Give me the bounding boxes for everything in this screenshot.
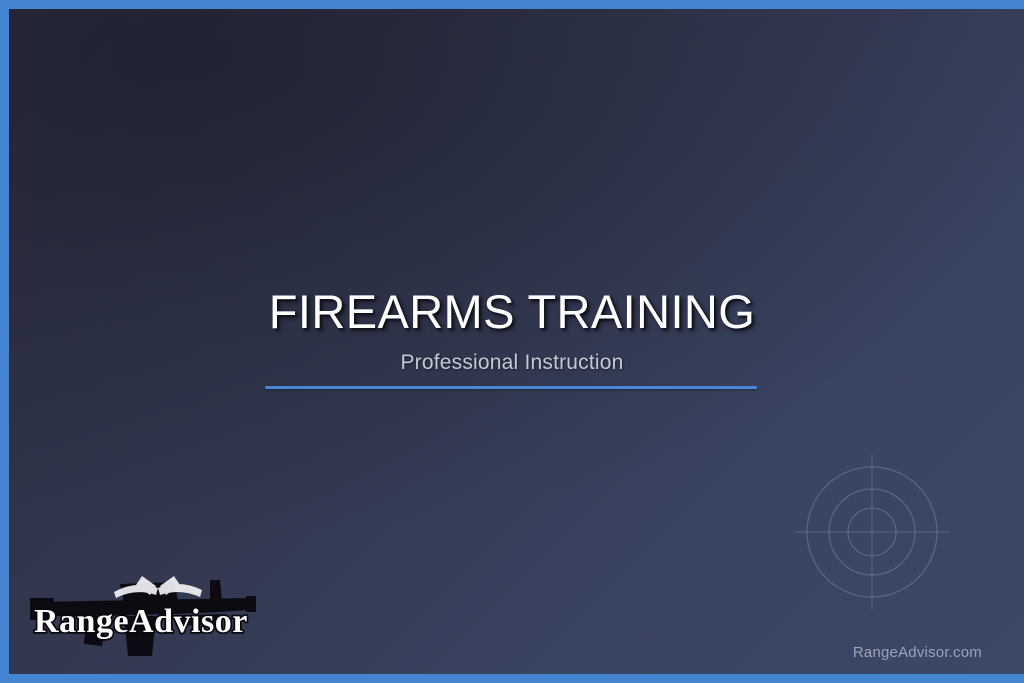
logo-wordmark: RangeAdvisor (34, 603, 248, 640)
presentation-slide: FIREARMS TRAINING Professional Instructi… (0, 0, 1024, 683)
slide-subtitle: Professional Instruction (0, 351, 1024, 375)
frame-border-top (0, 0, 1024, 9)
brand-logo: RangeAdvisor (24, 558, 258, 664)
footer-url: RangeAdvisor.com (853, 644, 982, 661)
accent-divider (265, 386, 757, 389)
frame-border-bottom (0, 674, 1024, 683)
title-block: FIREARMS TRAINING Professional Instructi… (0, 288, 1024, 375)
page-title: FIREARMS TRAINING (0, 288, 1024, 337)
